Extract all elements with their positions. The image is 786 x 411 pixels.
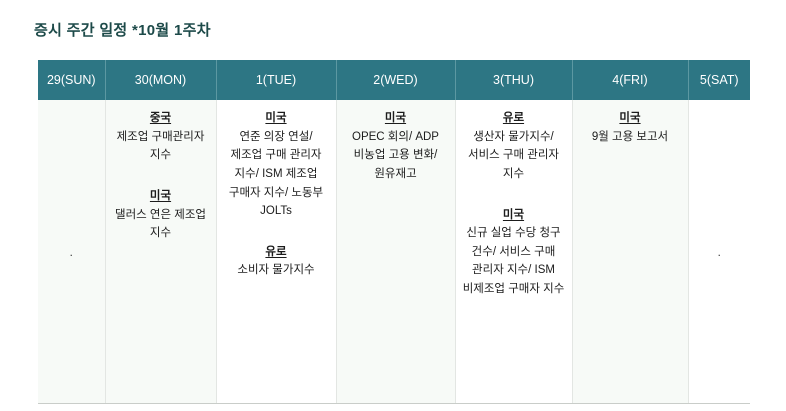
event-region: 미국 [462,206,566,225]
column-header-wed: 2(WED) [336,60,455,100]
day-cell-tue: 미국 연준 의장 연설/ 제조업 구매 관리자 지수/ ISM 제조업 구매자 … [216,100,336,404]
event-list: 댈러스 연은 제조업 지수 [112,206,210,243]
event-region: 유로 [462,109,566,128]
event-block: 미국 신규 실업 수당 청구 건수/ 서비스 구매 관리자 지수/ ISM 비제… [462,206,566,299]
event-list: 연준 의장 연설/ 제조업 구매 관리자 지수/ ISM 제조업 구매자 지수/… [223,128,330,221]
event-block: 유로 소비자 물가지수 [223,243,330,280]
event-region: 유로 [223,243,330,262]
weekly-market-schedule-page: 증시 주간 일정 *10월 1주차 29(SUN) 30(MON) 1(TUE)… [0,0,786,411]
event-region: 미국 [343,109,449,128]
column-header-thu: 3(THU) [455,60,572,100]
column-header-sun: 29(SUN) [38,60,105,100]
event-block: 미국 9월 고용 보고서 [579,109,682,146]
column-header-tue: 1(TUE) [216,60,336,100]
event-region: 중국 [112,109,210,128]
table-body: . 중국 제조업 구매관리자 지수 미국 댈러스 연은 제조업 지수 미국 연준… [38,100,750,404]
table-header: 29(SUN) 30(MON) 1(TUE) 2(WED) 3(THU) 4(F… [38,60,750,100]
event-list: 9월 고용 보고서 [579,128,682,147]
day-cell-fri: 미국 9월 고용 보고서 [572,100,688,404]
event-block: 중국 제조업 구매관리자 지수 [112,109,210,165]
event-region: 미국 [112,187,210,206]
event-region: 미국 [579,109,682,128]
table-row: . 중국 제조업 구매관리자 지수 미국 댈러스 연은 제조업 지수 미국 연준… [38,100,750,404]
header-row: 29(SUN) 30(MON) 1(TUE) 2(WED) 3(THU) 4(F… [38,60,750,100]
event-list: 생산자 물가지수/ 서비스 구매 관리자 지수 [462,128,566,184]
column-header-mon: 30(MON) [105,60,216,100]
day-cell-sun: . [38,100,105,404]
weekly-schedule-table: 29(SUN) 30(MON) 1(TUE) 2(WED) 3(THU) 4(F… [38,60,750,404]
event-region: 미국 [223,109,330,128]
event-list: 제조업 구매관리자 지수 [112,128,210,165]
event-block: 유로 생산자 물가지수/ 서비스 구매 관리자 지수 [462,109,566,184]
day-cell-sat: . [688,100,750,404]
event-list: 소비자 물가지수 [223,261,330,280]
day-cell-mon: 중국 제조업 구매관리자 지수 미국 댈러스 연은 제조업 지수 [105,100,216,404]
day-cell-wed: 미국 OPEC 회의/ ADP 비농업 고용 변화/ 원유재고 [336,100,455,404]
column-header-sat: 5(SAT) [688,60,750,100]
day-cell-thu: 유로 생산자 물가지수/ 서비스 구매 관리자 지수 미국 신규 실업 수당 청… [455,100,572,404]
column-header-fri: 4(FRI) [572,60,688,100]
event-block: 미국 댈러스 연은 제조업 지수 [112,187,210,243]
event-block: 미국 OPEC 회의/ ADP 비농업 고용 변화/ 원유재고 [343,109,449,184]
event-list: 신규 실업 수당 청구 건수/ 서비스 구매 관리자 지수/ ISM 비제조업 … [462,224,566,299]
page-title: 증시 주간 일정 *10월 1주차 [34,19,211,40]
event-block: 미국 연준 의장 연설/ 제조업 구매 관리자 지수/ ISM 제조업 구매자 … [223,109,330,221]
event-list: OPEC 회의/ ADP 비농업 고용 변화/ 원유재고 [343,128,449,184]
